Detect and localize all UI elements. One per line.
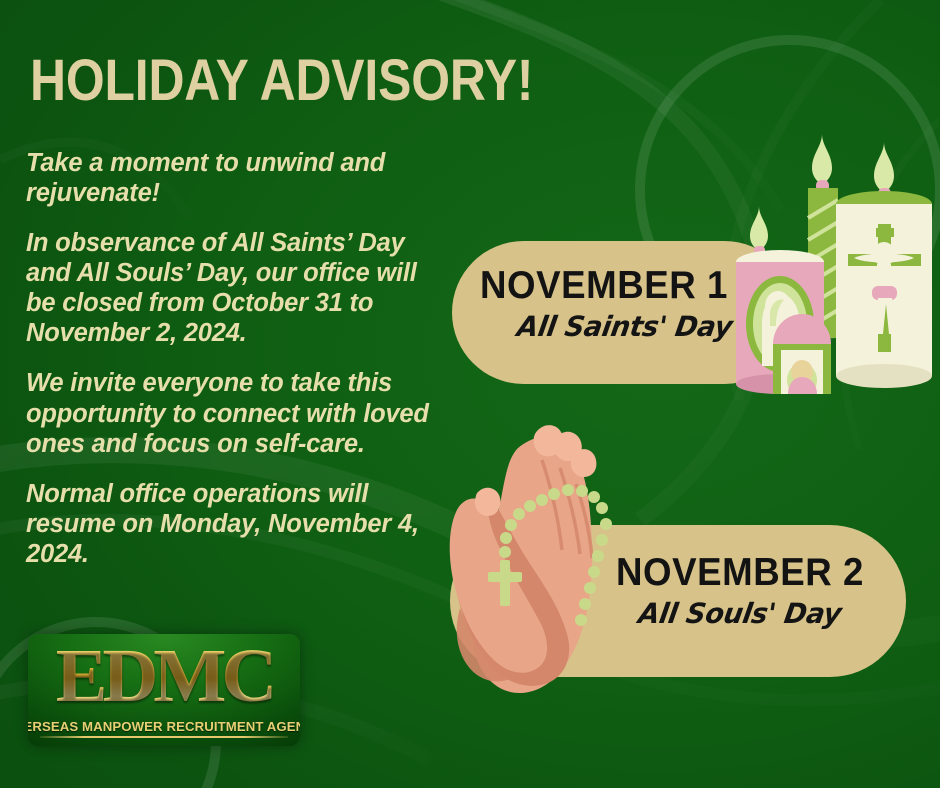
page-title: HOLIDAY ADVISORY! [30, 52, 546, 110]
logo-wordmark: EDMC [56, 636, 272, 717]
candle-cream-crucifix [836, 142, 932, 388]
advisory-paragraph-2: In observance of All Saints’ Day and All… [26, 228, 436, 348]
advisory-paragraph-3: We invite everyone to take this opportun… [26, 368, 436, 458]
edmc-logo: EDMC OVERSEAS MANPOWER RECRUITMENT AGENC… [28, 634, 300, 746]
date-label-november-1: NOVEMBER 1 [476, 266, 732, 306]
date-badge-november-1-text: NOVEMBER 1 All Saints' Day [468, 266, 740, 343]
occasion-label-all-saints-day: All Saints' Day [469, 310, 738, 343]
praying-hands-icon [442, 408, 656, 708]
candles-icon [726, 128, 940, 394]
logo-tagline: OVERSEAS MANPOWER RECRUITMENT AGENCY [28, 719, 300, 734]
candle-votive-saint [773, 314, 831, 394]
logo-divider [40, 736, 288, 738]
holiday-advisory-poster: HOLIDAY ADVISORY! Take a moment to unwin… [0, 0, 940, 788]
advisory-paragraph-1: Take a moment to unwind and rejuvenate! [26, 148, 436, 208]
advisory-paragraph-4: Normal office operations will resume on … [26, 479, 436, 569]
advisory-body-text: Take a moment to unwind and rejuvenate! … [26, 148, 436, 569]
